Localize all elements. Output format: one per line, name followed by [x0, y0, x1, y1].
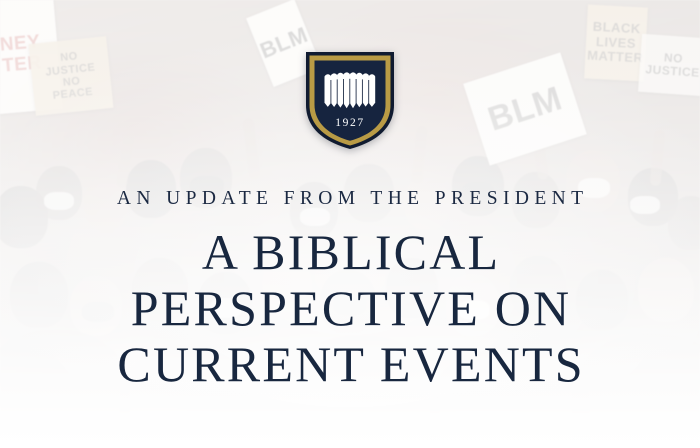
headline-line-2: PERSPECTIVE ON: [115, 280, 585, 336]
banner-eyebrow-text: AN UPDATE FROM THE PRESIDENT: [112, 188, 589, 210]
university-shield-crest-icon: 1927: [304, 49, 396, 151]
headline-line-3: CURRENT EVENTS: [115, 336, 585, 392]
headline-line-1: A BIBLICAL: [115, 224, 585, 280]
banner-content: 1927 AN UPDATE FROM THE PRESIDENT A BIBL…: [0, 0, 700, 448]
president-update-banner: NEY TER NO JUSTICE NO PEACE BLM BLACK LI…: [0, 0, 700, 448]
crest-year: 1927: [335, 117, 364, 129]
banner-headline: A BIBLICAL PERSPECTIVE ON CURRENT EVENTS: [115, 224, 585, 392]
